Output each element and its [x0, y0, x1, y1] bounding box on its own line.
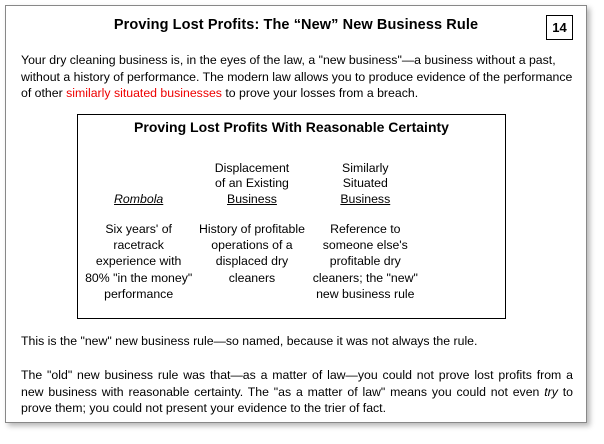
column-header-displacement-line3: Business	[215, 192, 290, 208]
column-header-similarly-situated: Similarly Situated Business	[309, 145, 422, 207]
column-header-rombola: Rombola	[82, 145, 195, 207]
intro-paragraph: Your dry cleaning business is, in the ey…	[21, 52, 573, 102]
closing-paragraph-2: The "old" new business rule was that—as …	[21, 367, 573, 417]
column-header-similarly-situated-line2: Situated	[340, 176, 390, 192]
comparison-table: Proving Lost Profits With Reasonable Cer…	[77, 114, 506, 319]
table-cell-similarly-situated: Reference to someone else's profitable d…	[309, 221, 422, 302]
page-number-badge: 14	[546, 15, 573, 40]
column-header-similarly-situated-line1: Similarly	[340, 161, 390, 177]
closing-paragraph-1: This is the "new" new business rule—so n…	[21, 333, 573, 350]
closing-emphasis-text: try	[544, 385, 558, 399]
column-header-similarly-situated-line3: Business	[340, 192, 390, 208]
closing-text-before: The "old" new business rule was that—as …	[21, 368, 573, 399]
table-cell-displacement: History of profitable operations of a di…	[195, 221, 308, 286]
column-header-displacement-line2: of an Existing	[215, 176, 290, 192]
page-title: Proving Lost Profits: The “New” New Busi…	[6, 17, 586, 33]
column-header-displacement: Displacement of an Existing Business	[195, 145, 308, 207]
column-header-displacement-line1: Displacement	[215, 161, 290, 177]
table-title: Proving Lost Profits With Reasonable Cer…	[78, 119, 505, 135]
title-row: Proving Lost Profits: The “New” New Busi…	[6, 15, 586, 45]
column-header-rombola-label: Rombola	[114, 192, 163, 206]
intro-highlight-text: similarly situated businesses	[66, 86, 222, 100]
table-column-displacement: Displacement of an Existing Business His…	[195, 145, 308, 286]
table-column-rombola: Rombola Six years' of racetrack experien…	[82, 145, 195, 302]
slide-frame: Proving Lost Profits: The “New” New Busi…	[5, 5, 587, 423]
table-column-similarly-situated: Similarly Situated Business Reference to…	[309, 145, 422, 302]
intro-text-after: to prove your losses from a breach.	[222, 86, 418, 100]
table-columns: Rombola Six years' of racetrack experien…	[82, 145, 422, 302]
table-cell-rombola: Six years' of racetrack experience with …	[82, 221, 195, 302]
